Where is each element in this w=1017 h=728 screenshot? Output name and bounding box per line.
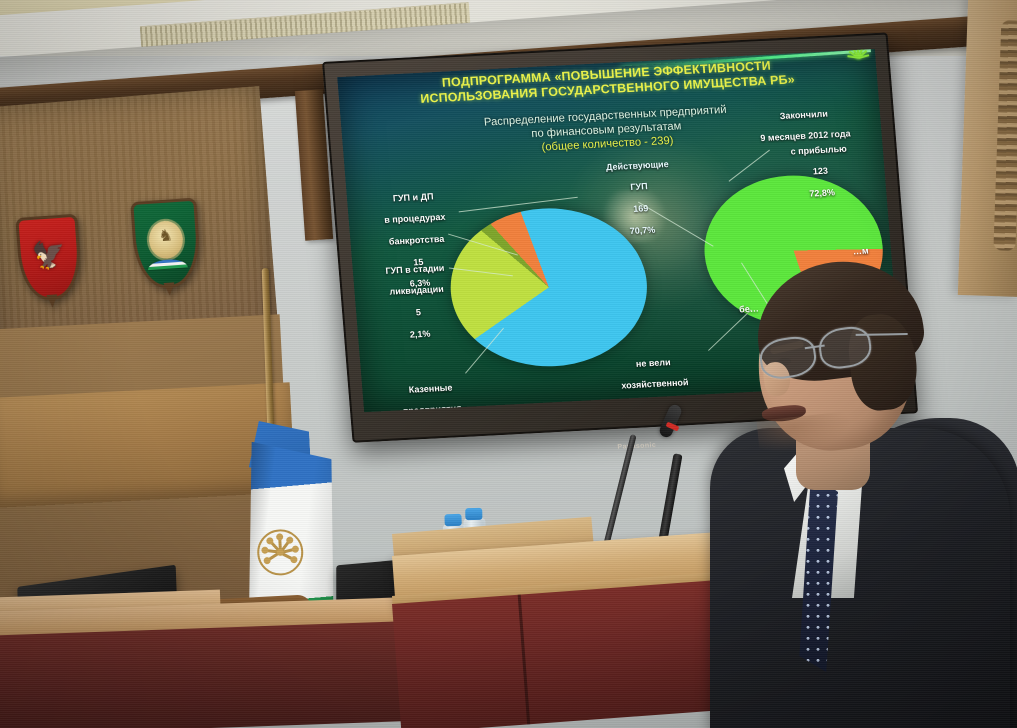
- emblem-russian-federation: 🦅: [15, 214, 76, 296]
- label-bankruptcy-line-2: в процедурах: [359, 211, 472, 228]
- speaker-at-podium: [700, 258, 1017, 728]
- eyeglass-temple: [856, 333, 908, 336]
- label-liquidation-line-2: ликвидации: [360, 283, 473, 300]
- right-heading-line-1: Закончили: [733, 106, 874, 124]
- label-no-activity-line-2: хозяйственной: [595, 376, 716, 393]
- tricolor-ribbon-icon: [147, 258, 188, 270]
- label-active-gup-percent: 70,7%: [588, 222, 697, 238]
- label-state-owned-line-1: Казенные: [372, 380, 489, 397]
- bottle-cap-1: [444, 514, 461, 527]
- emblem-bashkortostan: ♞: [130, 198, 196, 284]
- label-active-gup-line-1: Действующие: [583, 158, 692, 174]
- label-with-profit-value: 123: [766, 164, 875, 180]
- label-liquidation-line-1: ГУП в стадии: [359, 261, 472, 278]
- label-with-profit-percent: 72,8%: [768, 185, 877, 201]
- label-liquidation-percent: 2,1%: [364, 326, 477, 343]
- label-liquidation-value: 5: [362, 304, 475, 321]
- label-no-activity-line-3: деятельности: [596, 398, 717, 412]
- label-with-profit: с прибылью 123 72,8%: [763, 131, 877, 212]
- bottle-cap-2: [465, 508, 482, 520]
- conference-room-photo: 🦅 ♞: [0, 0, 1017, 728]
- label-liquidation: ГУП в стадии ликвидации 5 2,1%: [358, 250, 478, 353]
- horseman-icon: ♞: [158, 229, 173, 246]
- shield-red: 🦅: [15, 214, 83, 302]
- label-state-owned-line-2: предприятия: [374, 402, 491, 412]
- carved-wood-column: [958, 0, 1017, 297]
- podium-seam-1: [518, 595, 531, 725]
- double-headed-eagle-icon: 🦅: [31, 242, 66, 271]
- label-active-gup: Действующие ГУП 169 70,7%: [582, 147, 698, 250]
- eyeglass-lens-left: [757, 334, 818, 381]
- shield-green: ♞: [130, 198, 202, 290]
- desk-front-left: [0, 621, 413, 728]
- label-active-gup-line-2: ГУП: [585, 179, 694, 195]
- eyeglass-lens-right: [817, 324, 874, 371]
- label-bankruptcy-line-3: банкротства: [360, 232, 473, 249]
- label-with-profit-line-1: с прибылью: [764, 142, 873, 158]
- label-no-activity-line-1: не вели: [593, 355, 714, 372]
- label-occluded-right: …м: [852, 245, 887, 258]
- label-bankruptcy-line-1: ГУП и ДП: [357, 189, 470, 206]
- label-state-owned: Казенные предприятия 50 20,9%: [371, 370, 495, 412]
